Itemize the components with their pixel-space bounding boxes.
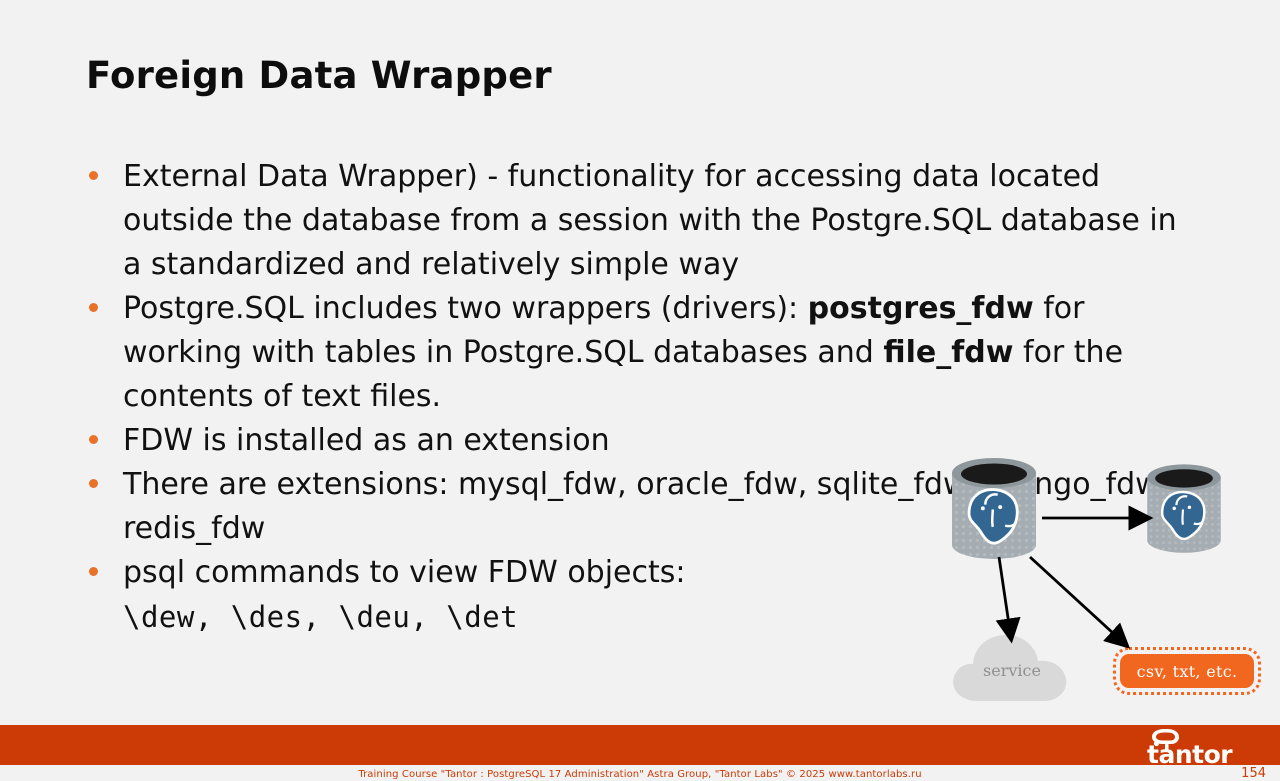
arrow-to-service	[999, 557, 1011, 638]
fdw-diagram: service csv, txt, etc.	[930, 445, 1260, 710]
page-title: Foreign Data Wrapper	[86, 54, 552, 97]
footer-note: Training Course "Tantor : PostgreSQL 17 …	[0, 765, 1280, 780]
footer-bar	[0, 725, 1280, 765]
page-number: 154	[1241, 766, 1266, 781]
bullet-wrappers-text: Postgre.SQL includes two wrappers (drive…	[123, 287, 1196, 419]
svg-text:tantor: tantor	[1147, 740, 1233, 766]
tantor-logo: tantor	[1143, 726, 1258, 766]
bullet-marker-icon	[89, 435, 98, 444]
bullet-marker-icon	[89, 567, 98, 576]
postgres-fdw-term: postgres_fdw	[808, 291, 1034, 326]
arrow-to-files	[1030, 557, 1126, 645]
list-item: External Data Wrapper) - functionality f…	[86, 155, 1196, 287]
list-item: Postgre.SQL includes two wrappers (drive…	[86, 287, 1196, 419]
bullet-definition-text: External Data Wrapper) - functionality f…	[123, 155, 1196, 287]
file-fdw-term: file_fdw	[883, 335, 1013, 370]
bullet-marker-icon	[89, 171, 98, 180]
bullet-marker-icon	[89, 479, 98, 488]
diagram-arrows	[930, 445, 1260, 710]
bullet-marker-icon	[89, 303, 98, 312]
